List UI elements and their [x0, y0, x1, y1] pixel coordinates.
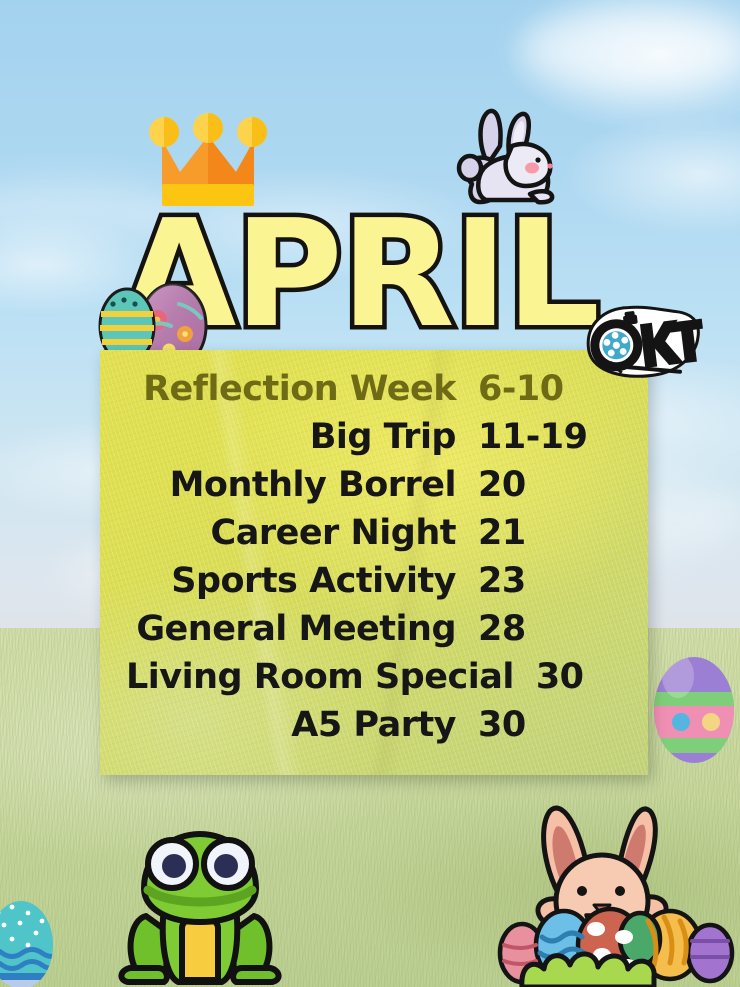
- easter-egg-right-icon: [648, 648, 740, 766]
- schedule-row: Living Room Special30: [126, 660, 586, 708]
- schedule-event-name: Reflection Week: [143, 372, 456, 407]
- kt-logo[interactable]: [575, 291, 711, 392]
- schedule-event-date: 11-19: [478, 420, 586, 455]
- schedule-row: General Meeting28: [126, 612, 586, 660]
- schedule-card: Reflection Week6-10Big Trip11-19Monthly …: [100, 350, 648, 775]
- bunny-icon: [452, 102, 562, 220]
- schedule-event-name: Big Trip: [310, 420, 456, 455]
- frog-icon: [116, 820, 284, 987]
- schedule-event-name: Career Night: [211, 516, 456, 551]
- schedule-event-date: 21: [478, 516, 586, 551]
- schedule-row: Monthly Borrel20: [126, 468, 586, 516]
- schedule-event-date: 23: [478, 564, 586, 599]
- schedule-event-date: 20: [478, 468, 586, 503]
- schedule-row: Big Trip11-19: [126, 420, 586, 468]
- cloud-icon: [520, 10, 740, 90]
- schedule-event-name: General Meeting: [136, 612, 456, 647]
- schedule-list: Reflection Week6-10Big Trip11-19Monthly …: [100, 350, 648, 775]
- schedule-row: Sports Activity23: [126, 564, 586, 612]
- schedule-row: Reflection Week6-10: [126, 372, 586, 420]
- schedule-event-name: A5 Party: [291, 708, 456, 743]
- schedule-event-name: Sports Activity: [171, 564, 456, 599]
- schedule-event-date: 28: [478, 612, 586, 647]
- bunny-with-eggs-icon: [498, 793, 734, 987]
- schedule-event-date: 30: [478, 708, 586, 743]
- schedule-event-name: Monthly Borrel: [170, 468, 456, 503]
- easter-egg-bottom-left-icon: [0, 895, 60, 987]
- schedule-event-date: 30: [536, 660, 586, 695]
- schedule-event-name: Living Room Special: [126, 660, 514, 695]
- april-calendar-poster: APRIL: [0, 0, 740, 987]
- schedule-event-date: 6-10: [478, 372, 586, 407]
- schedule-row: A5 Party30: [126, 708, 586, 756]
- schedule-row: Career Night21: [126, 516, 586, 564]
